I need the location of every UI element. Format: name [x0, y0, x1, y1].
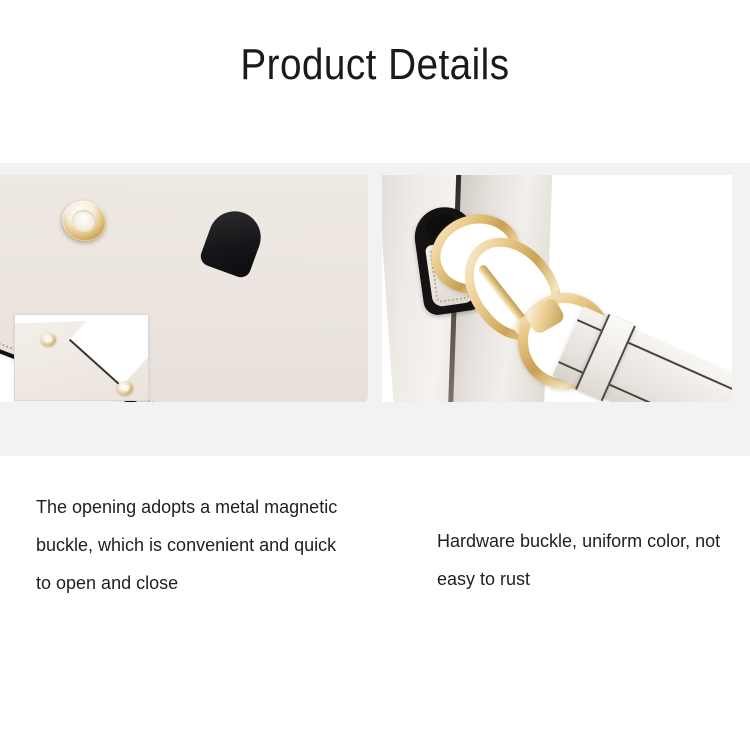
product-photo-magnetic-buckle[interactable]	[0, 175, 368, 402]
photo-content-right	[382, 175, 732, 402]
caption-magnetic-buckle: The opening adopts a metal magnetic buck…	[36, 488, 346, 602]
title-section: Product Details	[0, 0, 750, 163]
caption-hardware-buckle: Hardware buckle, uniform color, not easy…	[437, 522, 737, 598]
captions-section: The opening adopts a metal magnetic buck…	[0, 456, 750, 750]
leather-shoulder-strap	[553, 306, 732, 402]
product-photo-hardware-buckle[interactable]	[382, 175, 732, 402]
gallery-band	[0, 163, 750, 456]
inset-thumbnail[interactable]	[14, 314, 149, 401]
flap-stitching-top	[17, 175, 368, 180]
flap-edge-top	[14, 175, 368, 177]
strap-keeper-loop	[575, 314, 636, 401]
inset-rivet-lower	[117, 381, 133, 395]
snap-dimple-icon	[77, 221, 91, 234]
page-title: Product Details	[240, 40, 509, 124]
photo-content-left	[0, 175, 368, 402]
product-details-page: { "page": { "title": "Product Details", …	[0, 0, 750, 750]
inset-rivet-upper	[41, 333, 56, 346]
